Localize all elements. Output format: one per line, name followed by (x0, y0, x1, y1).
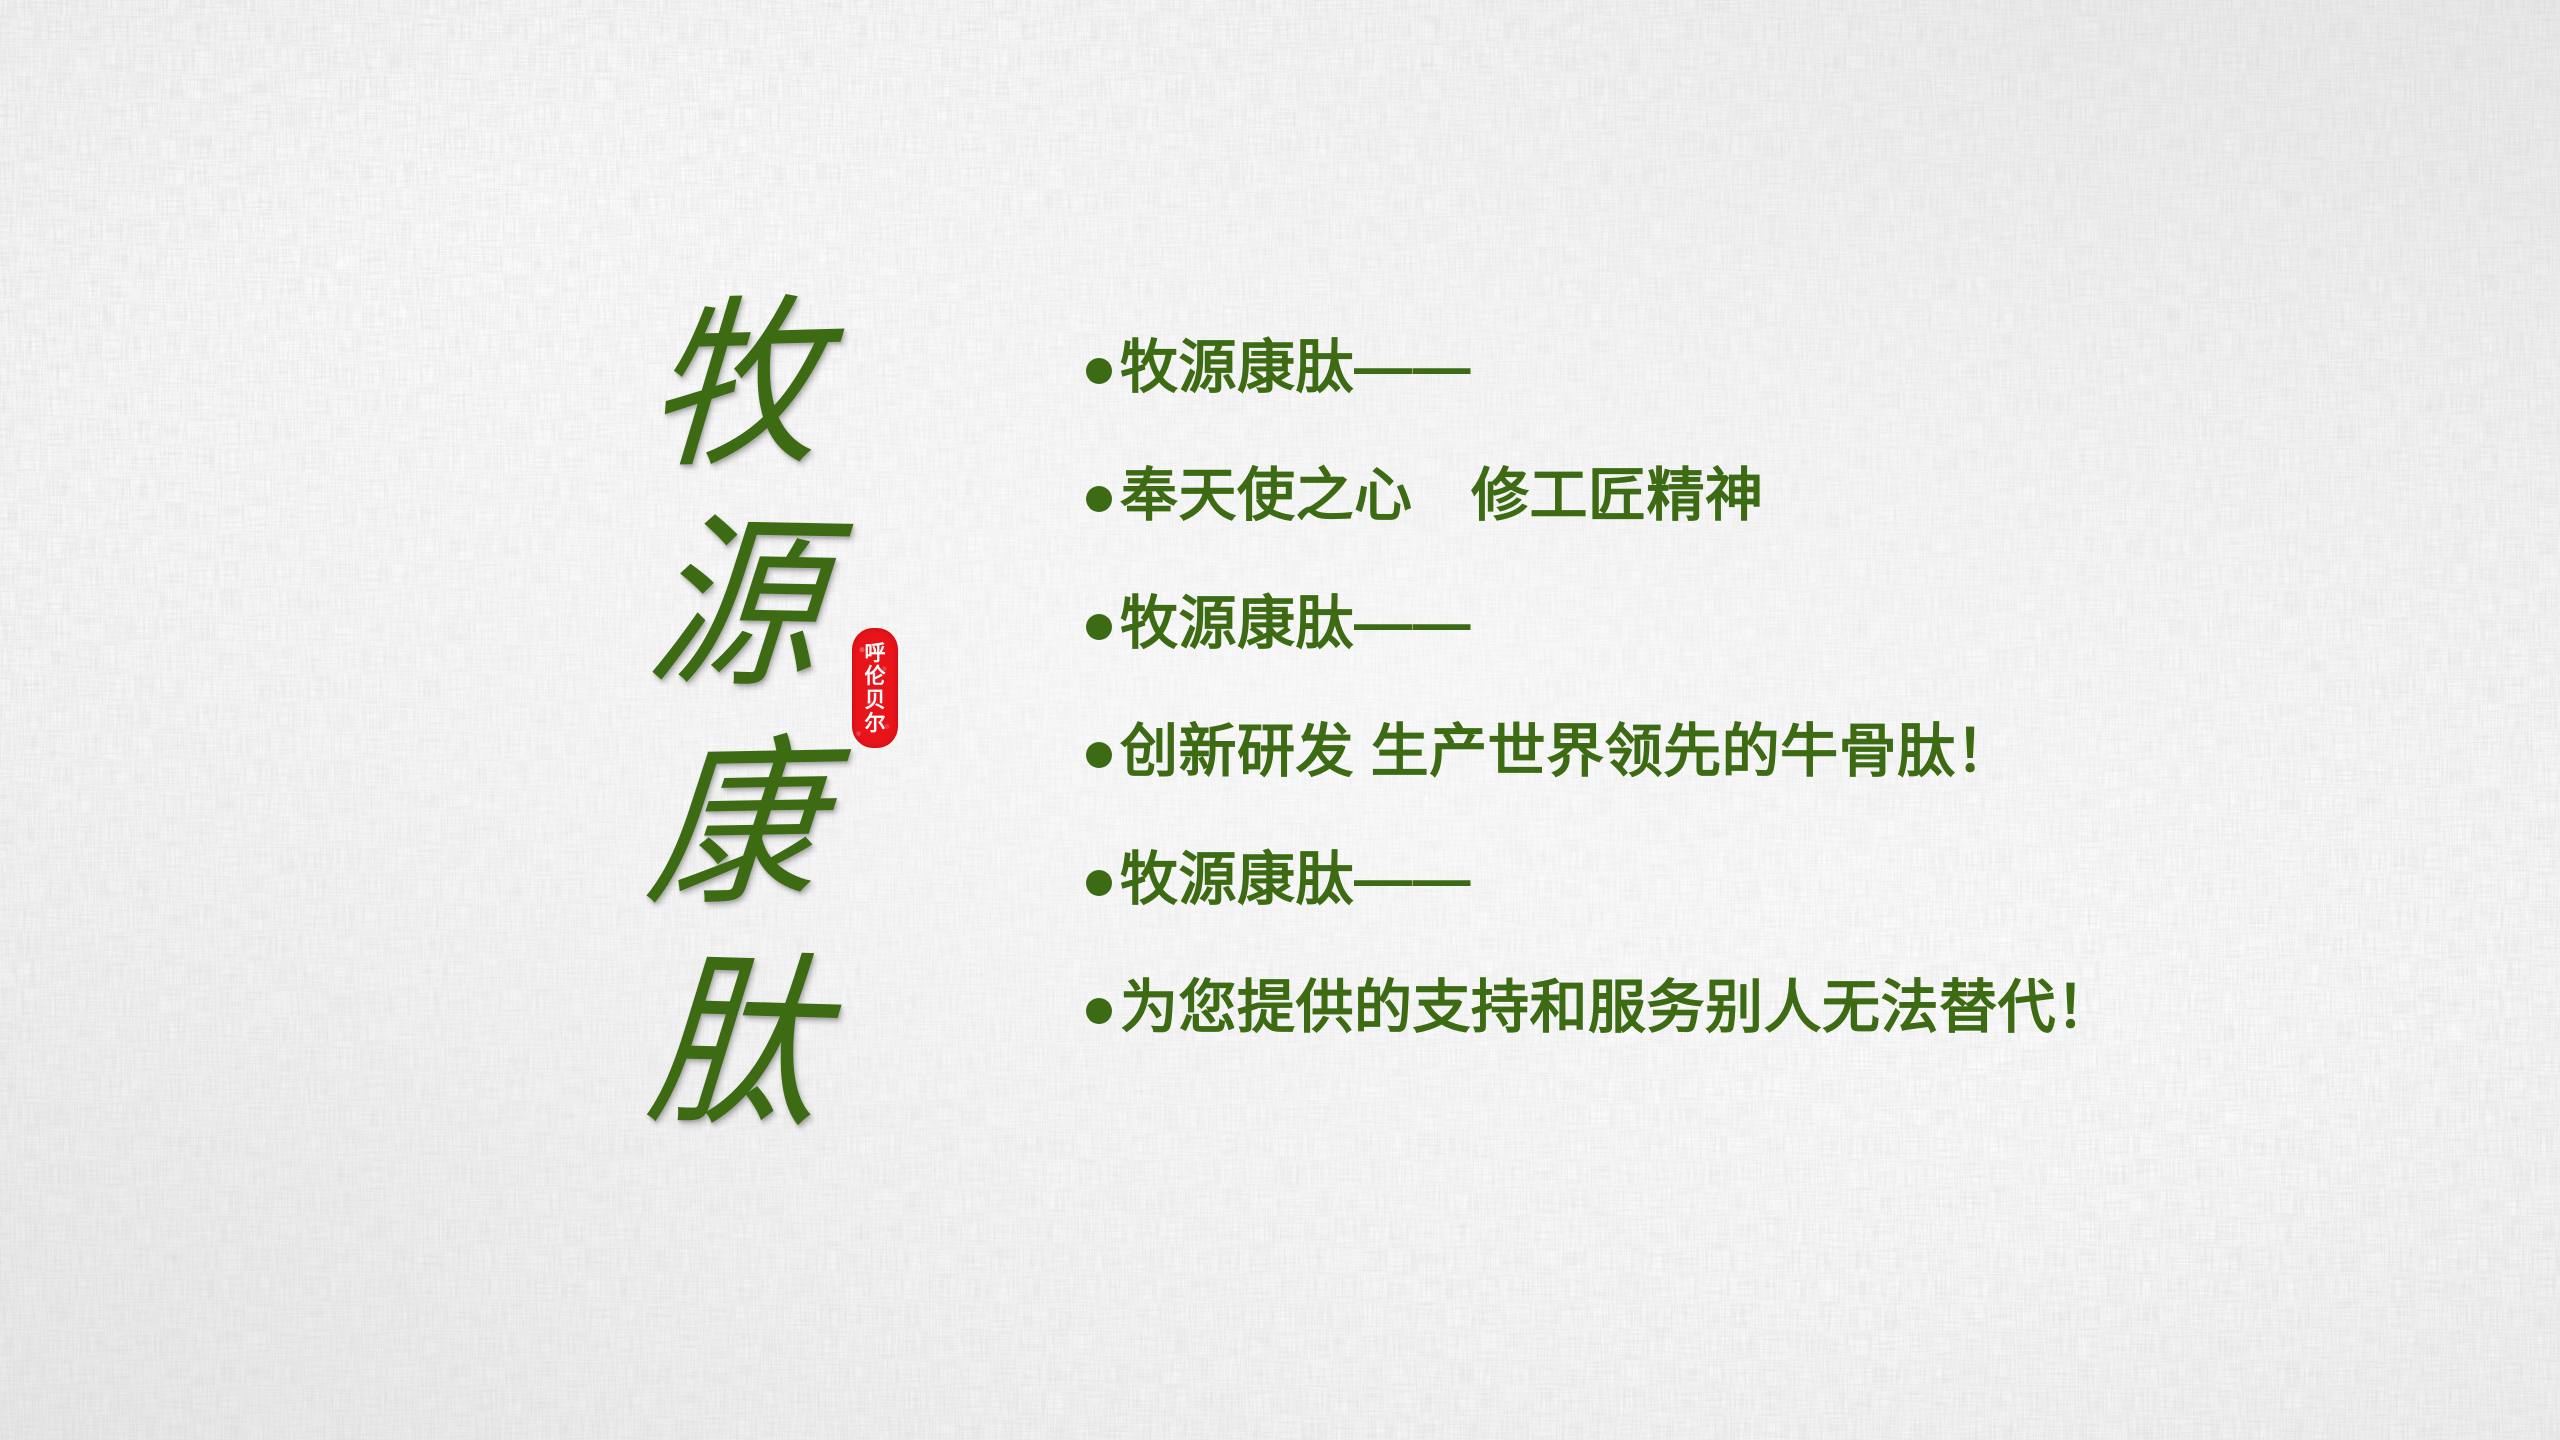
bullet-dot-icon (1086, 870, 1112, 896)
list-item: 为您提供的支持和服务别人无法替代！ (1086, 970, 2486, 1098)
bullet-text-6: 为您提供的支持和服务别人无法替代！ (1120, 970, 2115, 1046)
vertical-brand-title: 牧 源 康 肽 (620, 300, 850, 1130)
seal-char-1: 呼 (865, 642, 886, 664)
list-item: 牧源康肽—— (1086, 330, 2486, 458)
list-item: 奉天使之心 修工匠精神 (1086, 458, 2486, 586)
list-item: 牧源康肽—— (1086, 842, 2486, 970)
list-item: 牧源康肽—— (1086, 586, 2486, 714)
bullet-text-2: 奉天使之心 修工匠精神 (1120, 458, 1764, 534)
seal-char-3: 贝 (865, 689, 886, 711)
bullet-dot-icon (1086, 358, 1112, 384)
bullet-dot-icon (1086, 486, 1112, 512)
bullet-dot-icon (1086, 614, 1112, 640)
red-seal-stamp: 呼 伦 贝 尔 (852, 628, 898, 748)
calligraphy-char-4: 肽 (642, 948, 828, 1140)
bullet-text-4: 创新研发 生产世界领先的牛骨肽！ (1120, 714, 2014, 790)
bullet-dot-icon (1086, 742, 1112, 768)
calligraphy-char-1: 牧 (643, 292, 827, 479)
bullet-dot-icon (1086, 998, 1112, 1024)
seal-char-2: 伦 (865, 665, 886, 687)
bullet-text-3: 牧源康肽—— (1120, 586, 1471, 662)
slogan-bullet-list: 牧源康肽—— 奉天使之心 修工匠精神 牧源康肽—— 创新研发 生产世界领先的牛骨… (1086, 330, 2486, 1098)
calligraphy-char-3: 康 (641, 733, 829, 917)
bullet-text-5: 牧源康肽—— (1120, 842, 1471, 918)
calligraphy-char-2: 源 (641, 511, 829, 700)
list-item: 创新研发 生产世界领先的牛骨肽！ (1086, 714, 2486, 842)
seal-char-4: 尔 (865, 712, 886, 734)
slide-canvas: 牧 源 康 肽 呼 伦 贝 尔 牧源康肽—— 奉天使之心 修工匠精神 牧源康肽—… (0, 0, 2560, 1440)
bullet-text-1: 牧源康肽—— (1120, 330, 1471, 406)
